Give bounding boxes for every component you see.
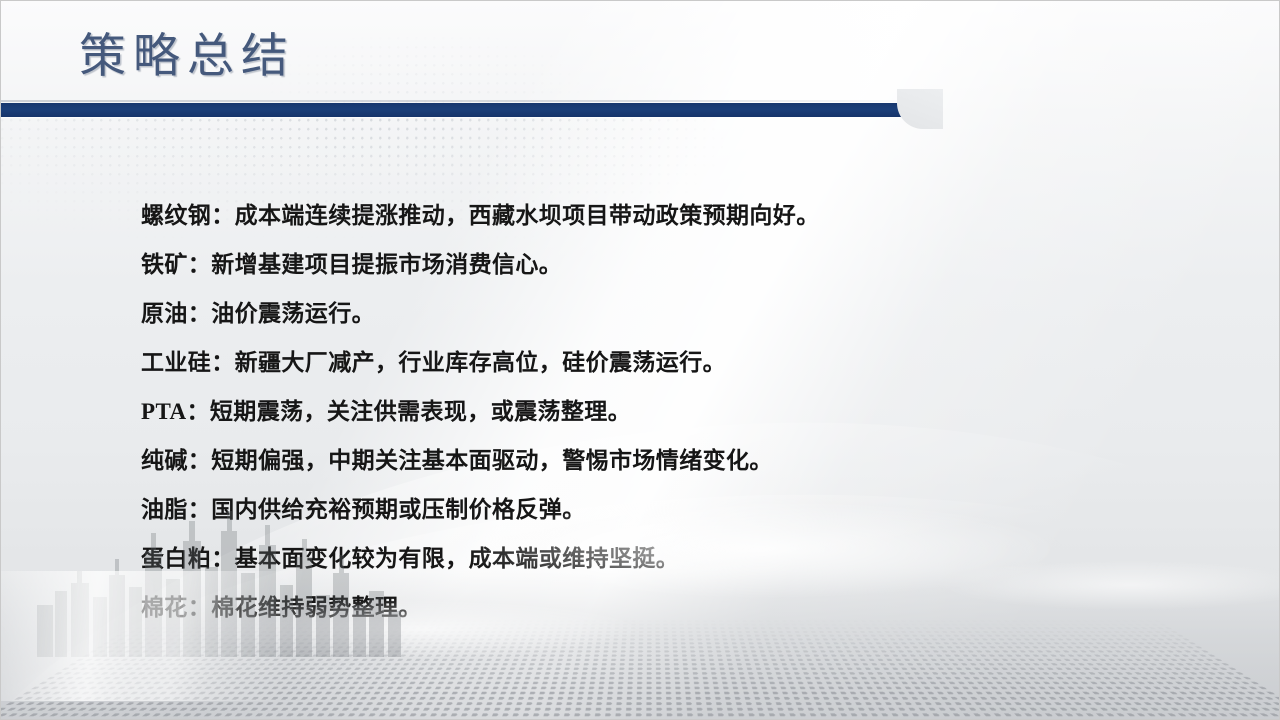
list-item: 原油：油价震荡运行。 [141, 289, 1141, 338]
commodity-comment: 新疆大厂减产，行业库存高位，硅价震荡运行。 [235, 350, 726, 375]
accent-bar [1, 103, 909, 117]
commodity-comment: 棉花维持弱势整理。 [211, 595, 422, 620]
list-item: 纯碱：短期偏强，中期关注基本面驱动，警惕市场情绪变化。 [141, 436, 1141, 485]
commodity-label: 纯碱： [141, 448, 211, 473]
list-item: 蛋白粕：基本面变化较为有限，成本端或维持坚挺。 [141, 534, 1141, 583]
commodity-label: 工业硅： [141, 350, 235, 375]
slide-header: 策略总结 [1, 1, 1280, 121]
list-item: PTA：短期震荡，关注供需表现，或震荡整理。 [141, 387, 1141, 436]
commodity-comment: 短期震荡，关注供需表现，或震荡整理。 [210, 399, 631, 424]
commodity-comment: 基本面变化较为有限，成本端或维持坚挺。 [235, 546, 680, 571]
commodity-comment: 国内供给充裕预期或压制价格反弹。 [211, 497, 585, 522]
strategy-summary-list: 螺纹钢：成本端连续提涨推动，西藏水坝项目带动政策预期向好。 铁矿：新增基建项目提… [141, 191, 1141, 632]
commodity-label: 原油： [141, 301, 211, 326]
accent-bar-cap [897, 89, 943, 129]
list-item: 棉花：棉花维持弱势整理。 [141, 583, 1141, 632]
page-title: 策略总结 [79, 34, 295, 81]
commodity-comment: 短期偏强，中期关注基本面驱动，警惕市场情绪变化。 [211, 448, 773, 473]
list-item: 铁矿：新增基建项目提振市场消费信心。 [141, 240, 1141, 289]
commodity-label: 棉花： [141, 595, 211, 620]
list-item: 油脂：国内供给充裕预期或压制价格反弹。 [141, 485, 1141, 534]
commodity-label: 螺纹钢： [141, 203, 235, 228]
commodity-comment: 油价震荡运行。 [211, 301, 375, 326]
slide-canvas: 策略总结 螺纹钢：成本端连续提涨推动，西藏水坝项目带动政策预期向好。 铁矿：新增… [0, 0, 1280, 720]
list-item: 螺纹钢：成本端连续提涨推动，西藏水坝项目带动政策预期向好。 [141, 191, 1141, 240]
list-item: 工业硅：新疆大厂减产，行业库存高位，硅价震荡运行。 [141, 338, 1141, 387]
commodity-label: PTA： [141, 399, 210, 424]
commodity-label: 铁矿： [141, 252, 211, 277]
commodity-label: 油脂： [141, 497, 211, 522]
halftone-dot-plane-icon [0, 620, 1280, 720]
commodity-comment: 成本端连续提涨推动，西藏水坝项目带动政策预期向好。 [235, 203, 820, 228]
commodity-label: 蛋白粕： [141, 546, 235, 571]
title-divider [1, 100, 915, 102]
commodity-comment: 新增基建项目提振市场消费信心。 [211, 252, 562, 277]
